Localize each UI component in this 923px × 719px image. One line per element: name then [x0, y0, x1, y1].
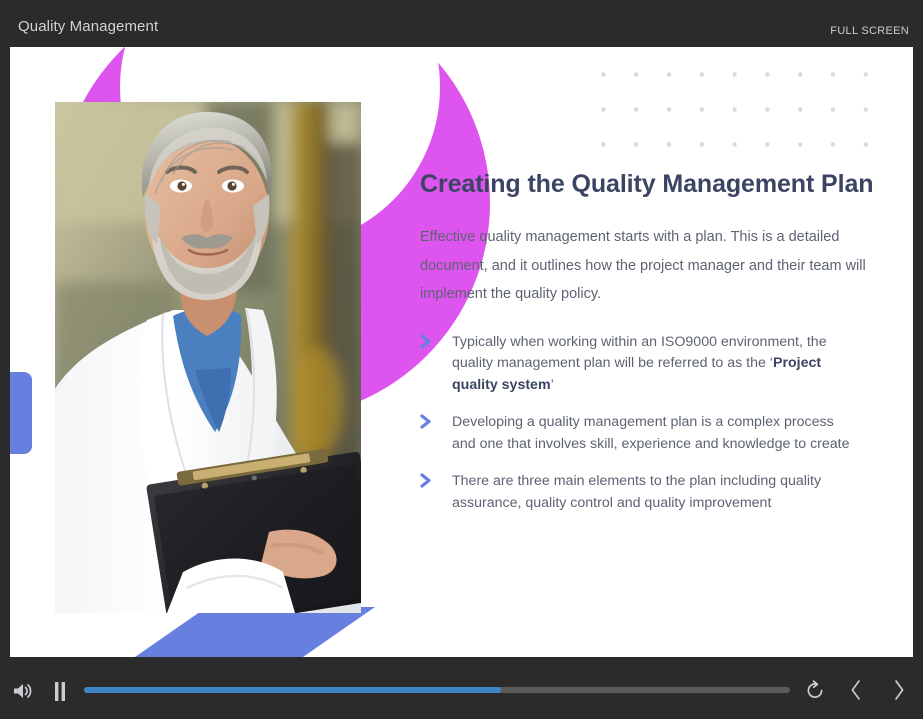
list-item: Typically when working within an ISO9000…	[420, 332, 880, 397]
fullscreen-button[interactable]: FULL SCREEN	[830, 25, 909, 37]
dot-grid-decoration	[583, 51, 893, 163]
progress-bar-fill	[84, 687, 501, 693]
chevron-right-icon	[892, 679, 906, 701]
blue-rounded-accent	[10, 372, 32, 454]
pause-icon	[53, 682, 67, 701]
page-title: Quality Management	[18, 18, 158, 35]
bullet-list: Typically when working within an ISO9000…	[420, 332, 880, 515]
replay-icon	[805, 680, 825, 701]
list-item: There are three main elements to the pla…	[420, 471, 880, 514]
speaker-volume-icon	[11, 681, 33, 701]
course-player: Quality Management FULL SCREEN	[0, 0, 923, 719]
list-item-text-main: Developing a quality management plan is …	[452, 414, 850, 452]
slide-content: Creating the Quality Management Plan Eff…	[420, 167, 880, 530]
slide-stage: Creating the Quality Management Plan Eff…	[10, 47, 913, 657]
photo-illustration	[55, 102, 361, 613]
list-item-text: Developing a quality management plan is …	[452, 412, 850, 455]
slide-intro-paragraph: Effective quality management starts with…	[420, 223, 870, 309]
chevron-left-icon	[849, 679, 863, 701]
list-item: Developing a quality management plan is …	[420, 412, 880, 455]
slide-heading: Creating the Quality Management Plan	[420, 167, 880, 202]
list-item-text: There are three main elements to the pla…	[452, 471, 850, 514]
player-header: Quality Management FULL SCREEN	[0, 0, 923, 47]
next-slide-button[interactable]	[888, 678, 910, 702]
replay-button[interactable]	[803, 678, 827, 702]
list-item-text-main: There are three main elements to the pla…	[452, 473, 821, 511]
chevron-right-icon	[420, 332, 452, 397]
list-item-text: Typically when working within an ISO9000…	[452, 332, 850, 397]
chevron-right-icon	[420, 471, 452, 514]
slide-photo	[55, 102, 361, 613]
previous-slide-button[interactable]	[845, 678, 867, 702]
pause-button[interactable]	[50, 679, 70, 703]
volume-button[interactable]	[10, 679, 34, 703]
blue-parallelogram-accent	[135, 607, 375, 657]
chevron-right-icon	[420, 412, 452, 455]
list-item-text-main: Typically when working within an ISO9000…	[452, 334, 827, 372]
list-item-text-tail: ’	[551, 377, 554, 393]
progress-bar[interactable]	[84, 687, 790, 693]
